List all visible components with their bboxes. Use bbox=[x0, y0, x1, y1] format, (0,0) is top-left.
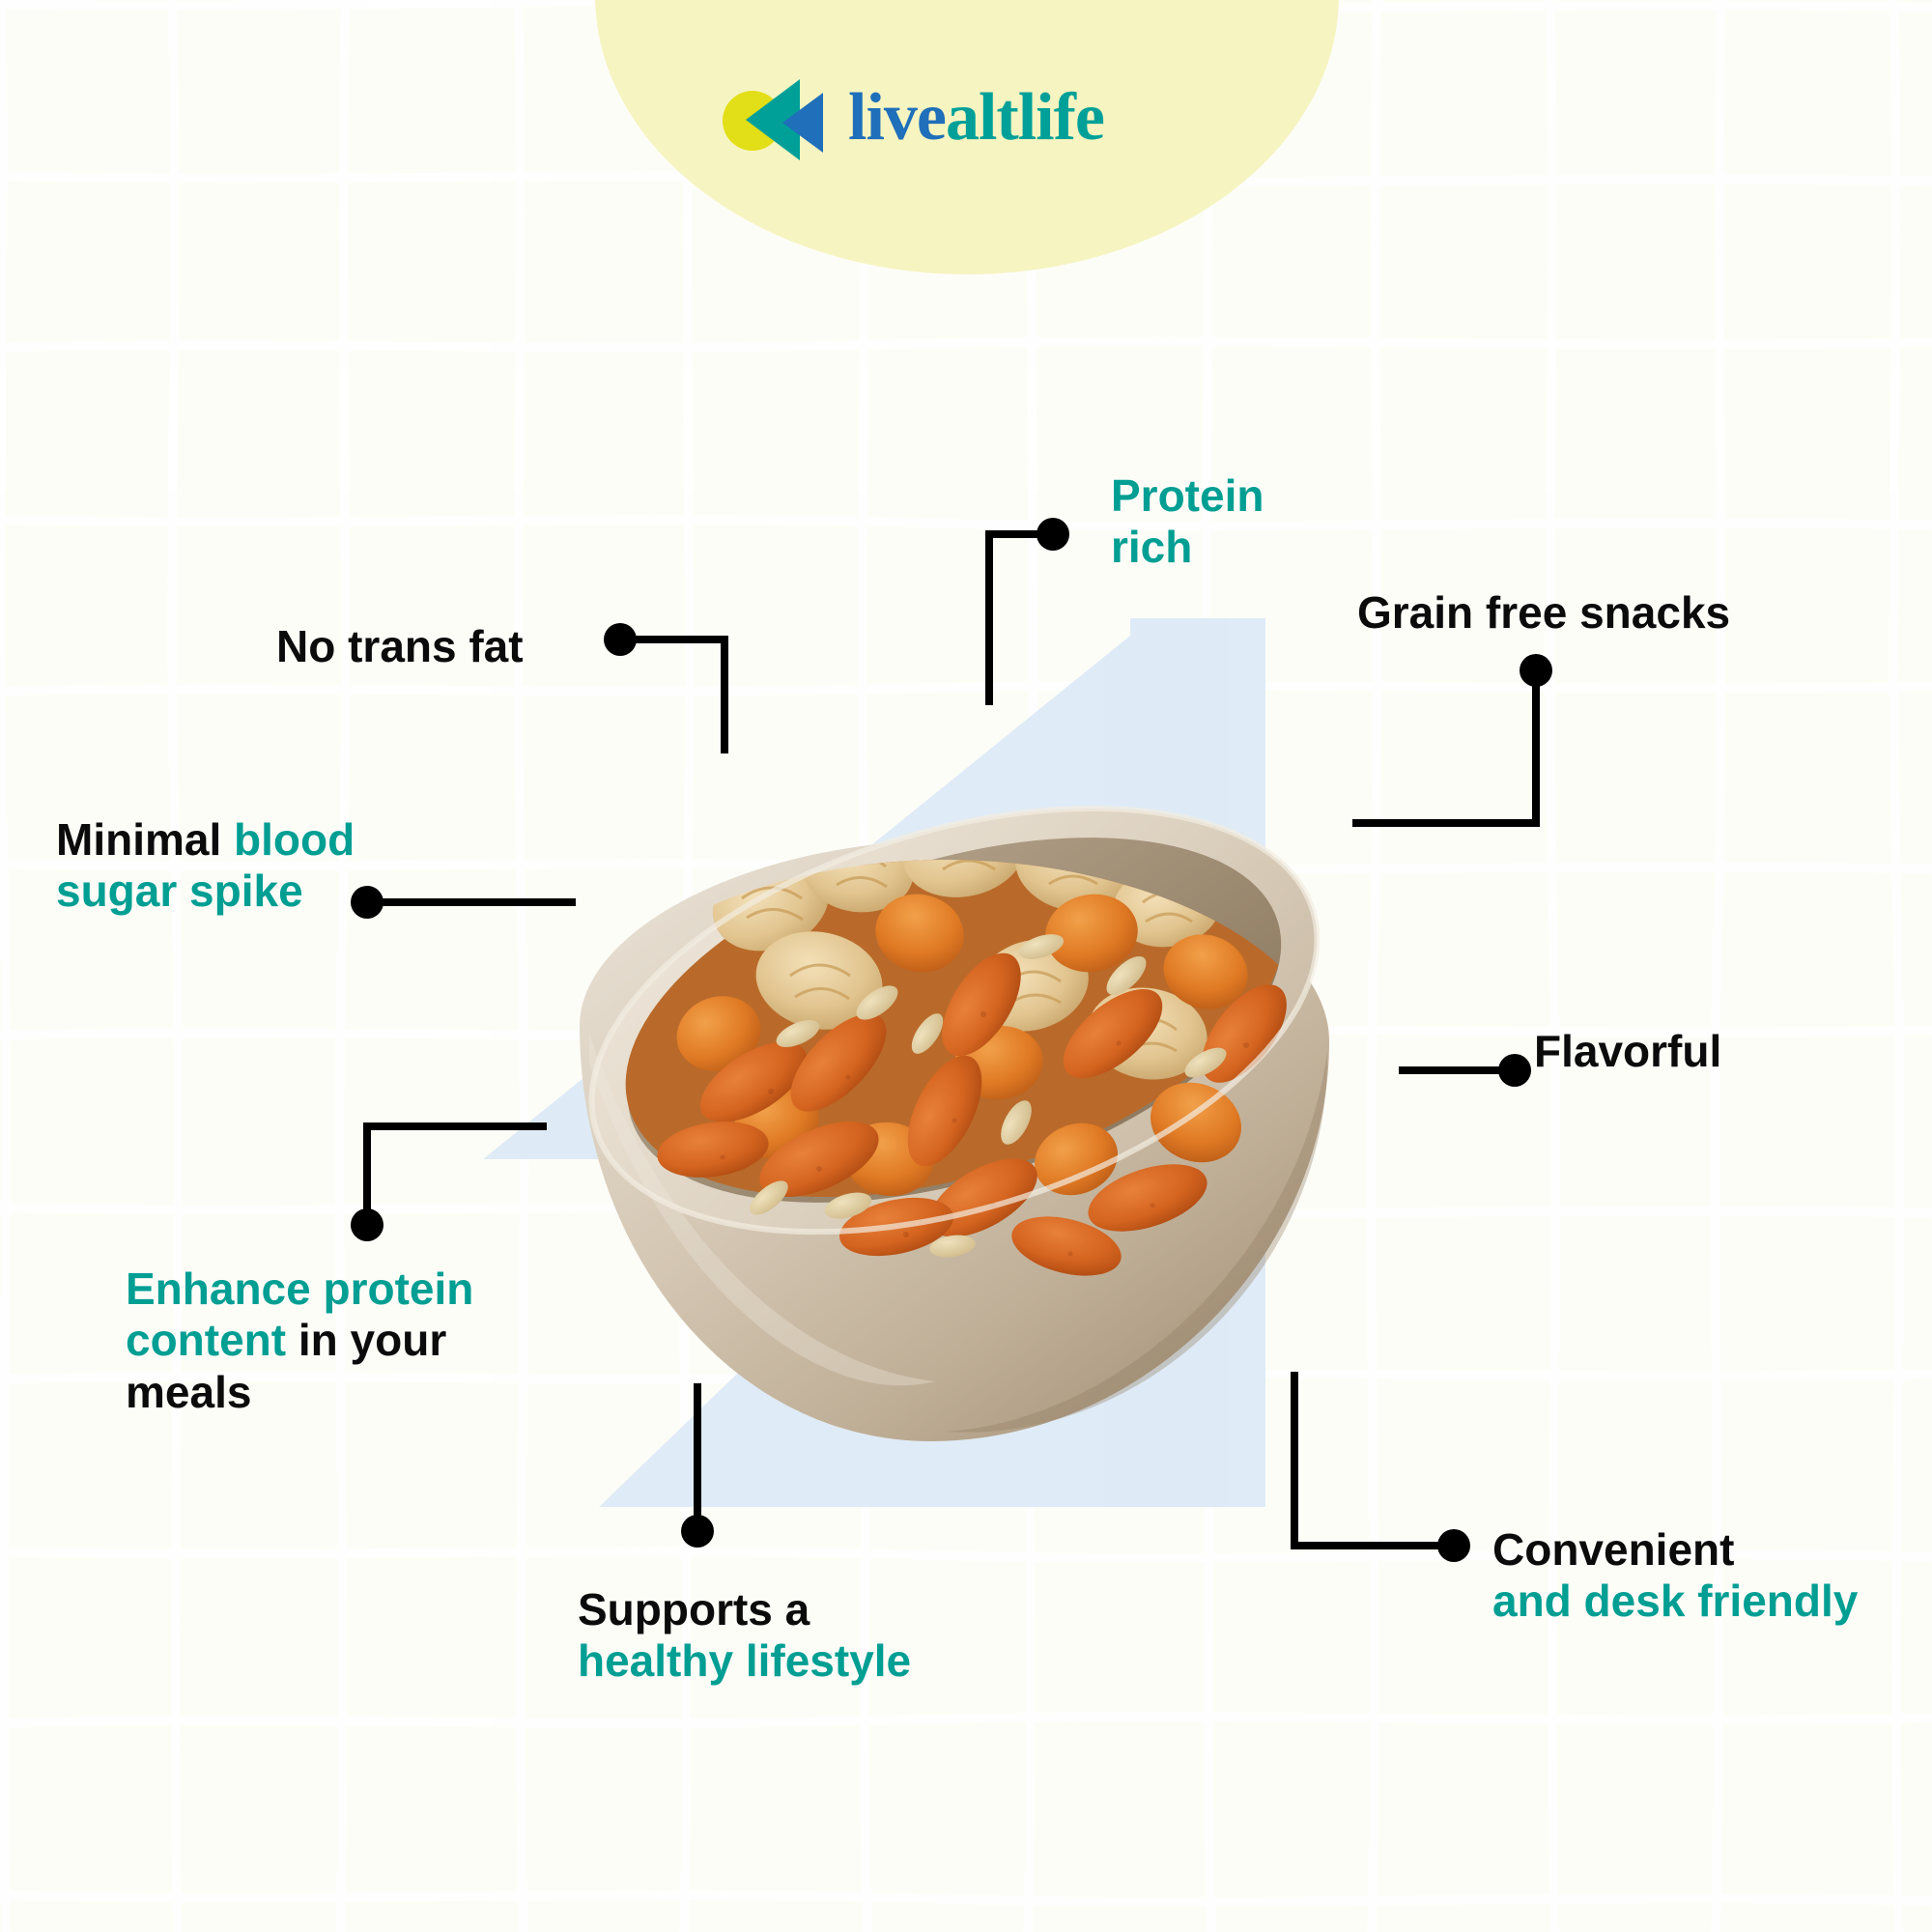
callout-label-convenient-desk: Convenientand desk friendly bbox=[1492, 1524, 1932, 1628]
callout-text-flavorful: Flavorful bbox=[1534, 1026, 1721, 1076]
callout-text-grain-free-snacks: Grain free snacks bbox=[1357, 587, 1730, 638]
callout-text-protein: Protein bbox=[1111, 470, 1264, 521]
connector-dot-enhance-protein bbox=[351, 1208, 384, 1241]
logo-word-altlife: altlife bbox=[946, 80, 1104, 155]
connector-dot-convenient-desk bbox=[1437, 1529, 1470, 1562]
callout-text-sugar-spike: sugar spike bbox=[56, 866, 303, 916]
infographic-canvas: livealtlife bbox=[0, 0, 1932, 1932]
callout-label-grain-free-snacks: Grain free snacks bbox=[1357, 587, 1860, 639]
connector-grain-free-snacks bbox=[1352, 670, 1536, 823]
callout-text-rich: rich bbox=[1111, 522, 1192, 572]
connector-enhance-protein bbox=[367, 1126, 547, 1225]
callout-text-no-trans-fat: No trans fat bbox=[276, 621, 524, 671]
hero-nuts-bowl-image bbox=[529, 744, 1360, 1459]
connector-dot-grain-free-snacks bbox=[1520, 654, 1552, 687]
callout-text-content: content bbox=[126, 1315, 286, 1365]
callout-text-in-your: in your bbox=[286, 1315, 446, 1365]
connector-dot-supports-lifestyle bbox=[681, 1515, 714, 1548]
callout-text-convenient: Convenient bbox=[1492, 1524, 1734, 1575]
callout-label-enhance-protein: Enhance proteincontent in yourmeals bbox=[126, 1264, 551, 1418]
callout-text-and-desk-friendly: and desk friendly bbox=[1492, 1576, 1858, 1626]
callout-label-protein-rich: Proteinrich bbox=[1111, 470, 1362, 574]
brand-logo[interactable]: livealtlife bbox=[723, 75, 1104, 160]
callout-label-flavorful: Flavorful bbox=[1534, 1026, 1853, 1077]
chevron-logo-mark-icon bbox=[723, 75, 837, 160]
logo-blue-triangle bbox=[782, 93, 823, 153]
brand-logo-wordmark: livealtlife bbox=[848, 84, 1104, 152]
connector-dot-protein-rich bbox=[1037, 518, 1069, 551]
callout-text-meals: meals bbox=[126, 1367, 251, 1417]
callout-text-supports-a: Supports a bbox=[578, 1584, 810, 1634]
callout-text-healthy-lifestyle: healthy lifestyle bbox=[578, 1635, 911, 1686]
callout-text-enhance-protein: Enhance protein bbox=[126, 1264, 473, 1314]
callout-label-supports-lifestyle: Supports ahealthy lifestyle bbox=[578, 1584, 1032, 1688]
callout-text-blood: blood bbox=[234, 814, 355, 865]
connector-dot-flavorful bbox=[1498, 1054, 1531, 1087]
callout-label-no-trans-fat: No trans fat bbox=[276, 621, 682, 672]
logo-word-live: live bbox=[848, 80, 946, 155]
connector-protein-rich bbox=[989, 534, 1053, 705]
callout-text-minimal: Minimal bbox=[56, 814, 234, 865]
callout-label-minimal-blood-sugar: Minimal bloodsugar spike bbox=[56, 814, 481, 918]
